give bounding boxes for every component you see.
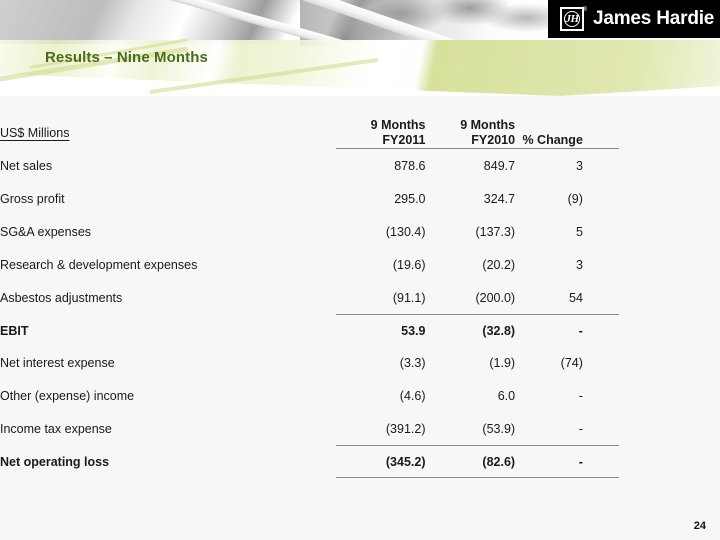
row-label: EBIT (0, 315, 336, 346)
row-fy2010: (200.0) (426, 281, 516, 314)
table-row: Net sales 878.6 849.7 3 (0, 149, 680, 182)
row-fy2011: (91.1) (336, 281, 426, 314)
row-fy2011: (130.4) (336, 215, 426, 248)
row-fy2011: (19.6) (336, 248, 426, 281)
table-row: EBIT 53.9 (32.8) - (0, 315, 680, 346)
header-pad-2 (619, 133, 680, 148)
row-label: Research & development expenses (0, 248, 336, 281)
row-fy2010: (82.6) (426, 446, 516, 477)
table-row: Gross profit 295.0 324.7 (9) (0, 182, 680, 215)
row-fy2010: (137.3) (426, 215, 516, 248)
row-label: Other (expense) income (0, 379, 336, 412)
header-pad-1 (619, 118, 680, 133)
table-header-row-1: US$ Millions 9 Months 9 Months (0, 118, 680, 133)
row-pad (619, 215, 680, 248)
page-number: 24 (694, 520, 706, 532)
jh-monogram-letters: JH (565, 14, 578, 25)
row-pad (619, 446, 680, 477)
row-fy2010: 324.7 (426, 182, 516, 215)
unit-label: US$ Millions (0, 126, 69, 140)
row-fy2010: (1.9) (426, 346, 516, 379)
financial-table-container: US$ Millions 9 Months 9 Months FY2011 FY… (0, 118, 720, 478)
row-change: 3 (515, 149, 619, 182)
row-label: Gross profit (0, 182, 336, 215)
row-fy2011: (3.3) (336, 346, 426, 379)
row-pad (619, 315, 680, 346)
row-label: Net operating loss (0, 446, 336, 477)
row-fy2011: (4.6) (336, 379, 426, 412)
table-row: Net interest expense (3.3) (1.9) (74) (0, 346, 680, 379)
row-label: Net sales (0, 149, 336, 182)
col-fy2010-line2: FY2010 (426, 133, 516, 148)
col-fy2011-line1: 9 Months (336, 118, 426, 133)
total-rule-bottom-row (0, 477, 680, 478)
row-fy2010: 849.7 (426, 149, 516, 182)
unit-label-cell: US$ Millions (0, 118, 336, 148)
registered-trademark-icon: ® (583, 7, 587, 13)
row-change: 3 (515, 248, 619, 281)
row-pad (619, 149, 680, 182)
row-change: (9) (515, 182, 619, 215)
col-fy2011-line2: FY2011 (336, 133, 426, 148)
total-rule-bottom-cell (336, 477, 619, 478)
col-fy2010-line1: 9 Months (426, 118, 516, 133)
page-title: Results – Nine Months (45, 49, 208, 66)
row-pad (619, 281, 680, 314)
total-rule-bottom-pad-right (619, 477, 680, 478)
row-pad (619, 379, 680, 412)
brand-wordmark: James Hardie (593, 8, 714, 30)
row-pad (619, 412, 680, 445)
row-fy2010: 6.0 (426, 379, 516, 412)
table-body: Net sales 878.6 849.7 3 Gross profit 295… (0, 149, 680, 478)
row-label: Net interest expense (0, 346, 336, 379)
row-fy2011: 53.9 (336, 315, 426, 346)
row-fy2011: (391.2) (336, 412, 426, 445)
row-pad (619, 346, 680, 379)
row-label: Asbestos adjustments (0, 281, 336, 314)
row-fy2011: (345.2) (336, 446, 426, 477)
row-change: - (515, 412, 619, 445)
james-hardie-logo: JH ® James Hardie (548, 0, 720, 38)
table-row: SG&A expenses (130.4) (137.3) 5 (0, 215, 680, 248)
row-change: - (515, 446, 619, 477)
table-row: Other (expense) income (4.6) 6.0 - (0, 379, 680, 412)
row-change: - (515, 379, 619, 412)
table-header: US$ Millions 9 Months 9 Months FY2011 FY… (0, 118, 680, 149)
table-row: Research & development expenses (19.6) (… (0, 248, 680, 281)
total-rule-bottom-pad-left (0, 477, 336, 478)
row-change: 54 (515, 281, 619, 314)
row-fy2011: 295.0 (336, 182, 426, 215)
total-rule-bottom (336, 477, 619, 478)
row-fy2011: 878.6 (336, 149, 426, 182)
row-pad (619, 248, 680, 281)
row-change: (74) (515, 346, 619, 379)
jh-monogram-circle: JH (564, 11, 580, 27)
row-fy2010: (32.8) (426, 315, 516, 346)
table-row: Income tax expense (391.2) (53.9) - (0, 412, 680, 445)
jh-monogram-icon: JH ® (560, 7, 584, 31)
row-fy2010: (53.9) (426, 412, 516, 445)
col-change-spacer (515, 118, 619, 133)
table-row: Asbestos adjustments (91.1) (200.0) 54 (0, 281, 680, 314)
row-pad (619, 182, 680, 215)
row-label: SG&A expenses (0, 215, 336, 248)
financial-results-table: US$ Millions 9 Months 9 Months FY2011 FY… (0, 118, 680, 478)
col-change-label: % Change (515, 133, 619, 148)
row-change: - (515, 315, 619, 346)
row-label: Income tax expense (0, 412, 336, 445)
table-row: Net operating loss (345.2) (82.6) - (0, 446, 680, 477)
row-change: 5 (515, 215, 619, 248)
row-fy2010: (20.2) (426, 248, 516, 281)
